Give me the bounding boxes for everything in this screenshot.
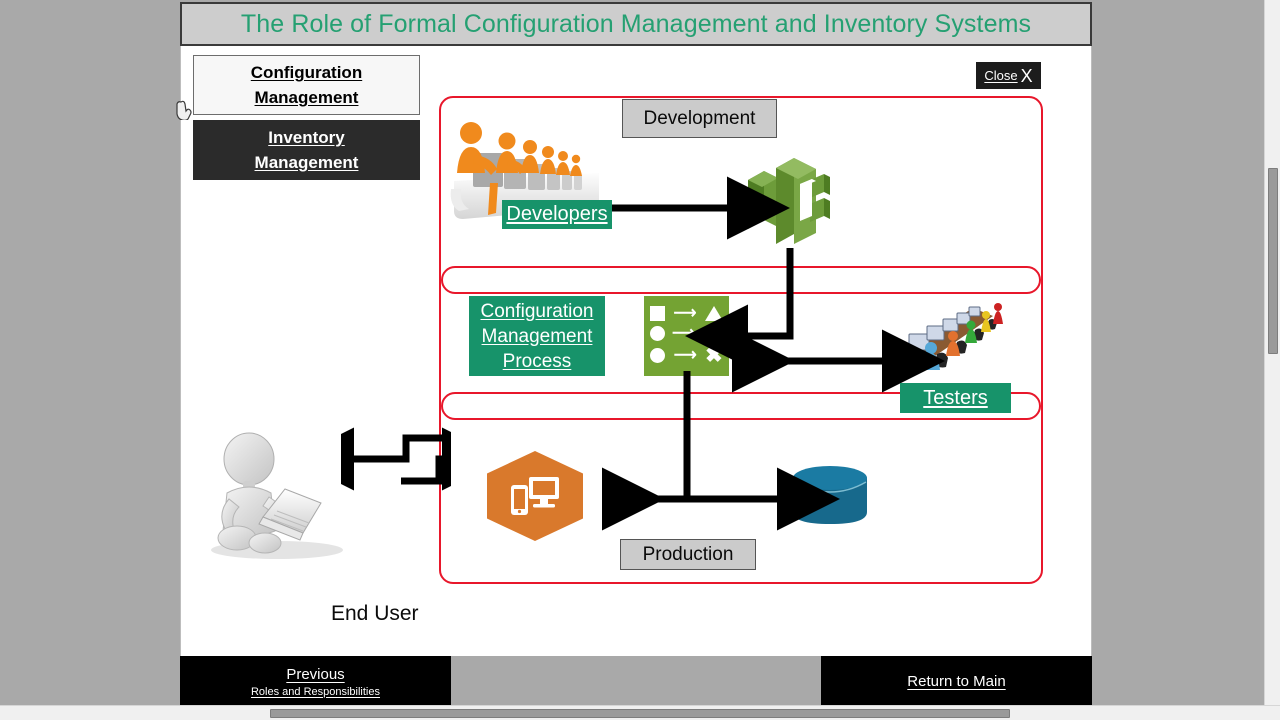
sidebar-item-inventory-management-line2: Management — [255, 150, 359, 175]
sidebar-item-inventory-management[interactable]: Inventory Management — [193, 120, 420, 180]
end-user-photo — [199, 431, 354, 561]
zone-label-development: Development — [622, 99, 777, 138]
arrow-right-icon: ⟶ — [674, 306, 697, 322]
cfg-row-1: ⟶ — [649, 306, 724, 322]
triangle-shape-icon — [705, 306, 723, 321]
tag-cmprocess-line1: Configuration — [480, 299, 593, 324]
cfg-row-2: ⟶ — [649, 326, 724, 342]
end-user-caption: End User — [331, 602, 419, 626]
horizontal-scrollbar-thumb[interactable] — [270, 709, 1010, 718]
sidebar-item-inventory-management-line1: Inventory — [268, 125, 345, 150]
previous-button[interactable]: Previous Roles and Responsibilities — [180, 656, 451, 707]
tag-developers-label: Developers — [506, 202, 607, 227]
slide-body: Configuration Management Inventory Manag… — [180, 46, 1092, 656]
tag-developers[interactable]: Developers — [502, 200, 612, 229]
screen-root: The Role of Formal Configuration Managem… — [0, 0, 1280, 720]
page-title-bar: The Role of Formal Configuration Managem… — [180, 2, 1092, 46]
devices-glyph-icon — [509, 475, 563, 517]
arrow-right-icon: ⟶ — [672, 326, 695, 342]
circle-shape-icon — [650, 348, 665, 363]
previous-button-title: Previous — [286, 666, 344, 683]
tag-testers-label: Testers — [923, 386, 987, 411]
configuration-management-diagram: ⟶ ⟶ ⟶ ✖ — [439, 96, 1043, 588]
return-to-main-button[interactable]: Return to Main — [821, 656, 1092, 707]
mouse-cursor-icon — [176, 100, 194, 120]
square-shape-icon — [650, 306, 665, 321]
diagram-divider-development-cm — [441, 266, 1041, 294]
circle-shape-icon — [650, 326, 665, 341]
database-icon — [791, 464, 869, 526]
tag-testers[interactable]: Testers — [900, 383, 1011, 413]
close-button-label: Close — [984, 68, 1017, 83]
end-user-connectors — [341, 426, 451, 491]
ellipse-shape-icon — [702, 327, 723, 340]
slide-frame: The Role of Formal Configuration Managem… — [180, 0, 1092, 705]
page-title: The Role of Formal Configuration Managem… — [241, 10, 1031, 39]
previous-button-subtitle: Roles and Responsibilities — [251, 686, 380, 698]
sidebar-item-configuration-management[interactable]: Configuration Management — [193, 55, 420, 115]
cross-shape-icon: ✖ — [705, 345, 723, 366]
arrow-right-icon: ⟶ — [674, 348, 697, 364]
tag-cmprocess-line3: Process — [503, 349, 572, 374]
cfg-row-3: ⟶ ✖ — [649, 345, 724, 366]
tag-cmprocess-line2: Management — [482, 324, 593, 349]
sidebar-item-configuration-management-line1: Configuration — [251, 60, 362, 85]
testers-photo — [901, 296, 1011, 386]
vertical-scrollbar[interactable] — [1264, 0, 1280, 705]
sidebar-item-configuration-management-line2: Management — [255, 85, 359, 110]
tag-configuration-management-process[interactable]: Configuration Management Process — [469, 296, 605, 376]
vertical-scrollbar-thumb[interactable] — [1268, 168, 1278, 354]
codecommit-repository-icon — [744, 154, 834, 248]
horizontal-scrollbar[interactable] — [0, 705, 1280, 720]
close-button[interactable]: Close X — [976, 62, 1041, 89]
return-to-main-button-title: Return to Main — [907, 673, 1005, 690]
close-icon: X — [1021, 67, 1033, 85]
zone-label-production: Production — [620, 539, 756, 570]
arrow-production-to-end-user — [347, 438, 449, 459]
configuration-transform-icon: ⟶ ⟶ ⟶ ✖ — [644, 296, 729, 376]
